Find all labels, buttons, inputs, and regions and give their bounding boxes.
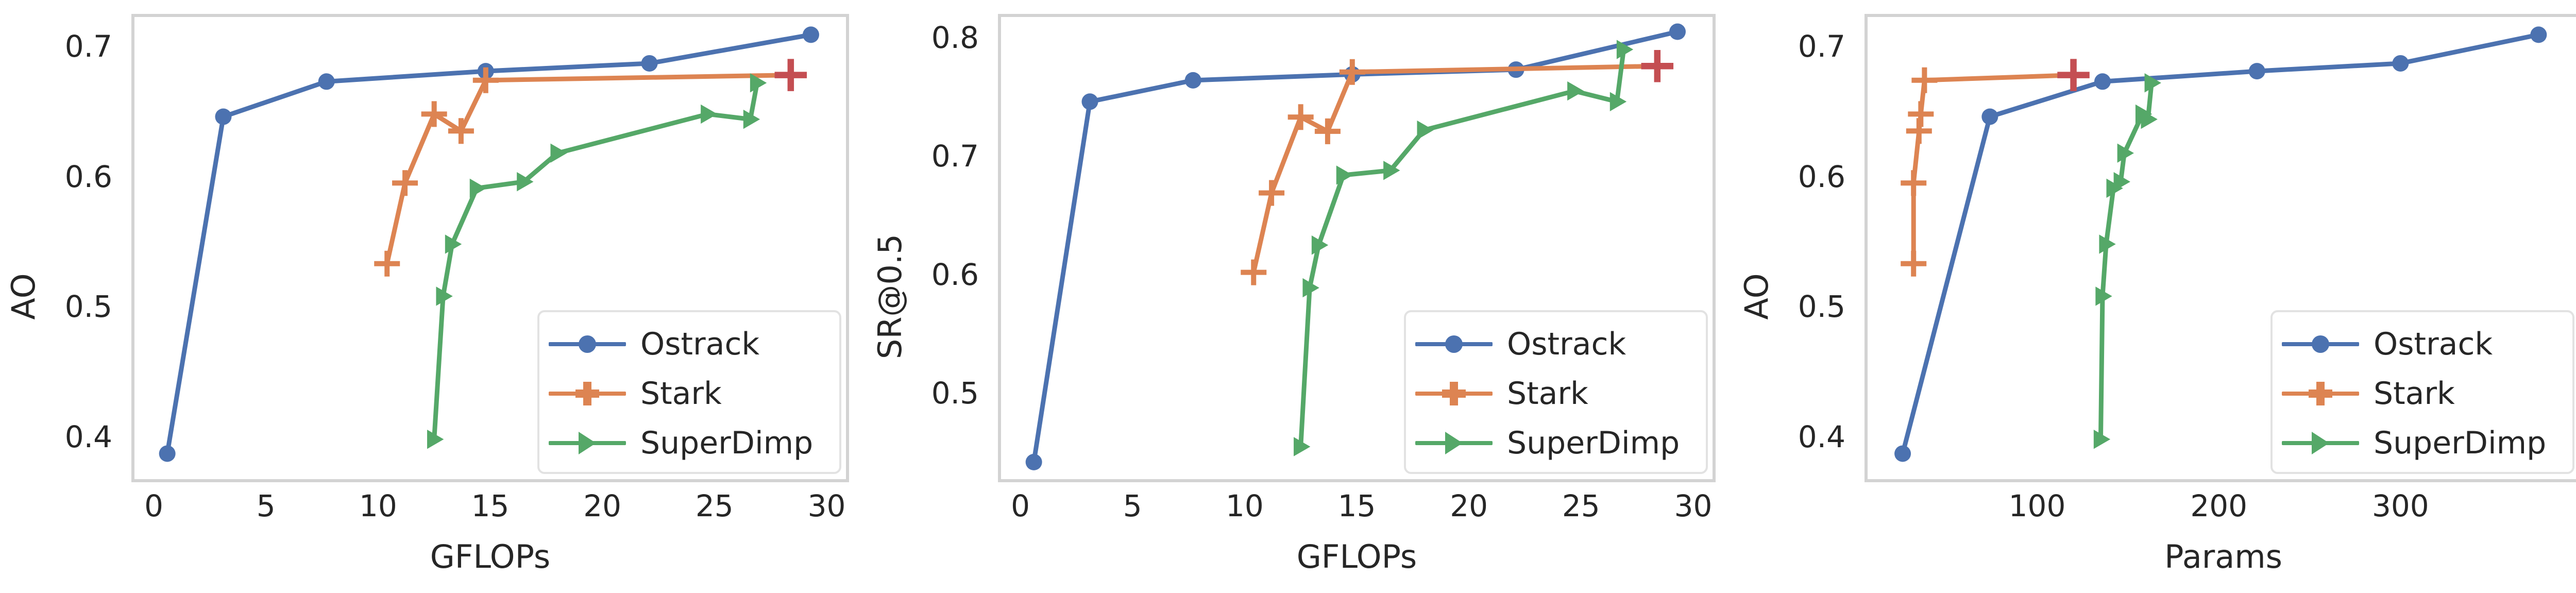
data-point-circle bbox=[2249, 63, 2265, 79]
x-tick-label: 10 bbox=[1226, 488, 1264, 523]
data-point-triangle-right bbox=[701, 105, 717, 124]
circle-icon bbox=[579, 335, 596, 353]
x-tick-label: 25 bbox=[696, 488, 734, 523]
plus-icon bbox=[1442, 382, 1466, 405]
x-tick-label: 15 bbox=[1338, 488, 1376, 523]
y-tick-label: 0.4 bbox=[1798, 419, 1845, 454]
y-tick-label: 0.6 bbox=[65, 159, 112, 194]
x-tick-label: 15 bbox=[471, 488, 510, 523]
data-point-plus bbox=[1901, 170, 1926, 196]
y-tick-label: 0.5 bbox=[65, 289, 112, 324]
legend-item-superdimp[interactable]: SuperDimp bbox=[2282, 418, 2561, 468]
data-point-circle bbox=[2392, 55, 2409, 72]
legend[interactable]: OstrackStarkSuperDimp bbox=[1404, 310, 1708, 474]
legend-swatch bbox=[549, 383, 626, 404]
legend-swatch bbox=[1415, 334, 1493, 354]
legend-item-stark[interactable]: Stark bbox=[1415, 369, 1694, 418]
legend-label: Stark bbox=[1507, 378, 1588, 409]
y-tick-label: 0.7 bbox=[931, 139, 979, 174]
x-tick-label: 10 bbox=[359, 488, 397, 523]
data-point-triangle-right bbox=[1417, 121, 1433, 140]
x-tick-label: 300 bbox=[2372, 488, 2429, 523]
data-point-circle bbox=[641, 55, 658, 72]
data-point-plus bbox=[374, 251, 400, 277]
y-tick-label: 0.5 bbox=[931, 376, 979, 411]
y-tick-label: 0.7 bbox=[1798, 29, 1845, 64]
data-point-plus bbox=[1901, 251, 1926, 277]
legend[interactable]: OstrackStarkSuperDimp bbox=[2270, 310, 2574, 474]
data-point-plus bbox=[448, 118, 474, 144]
legend-label: SuperDimp bbox=[640, 428, 813, 459]
legend-swatch bbox=[1415, 383, 1493, 404]
legend-swatch bbox=[1415, 433, 1493, 453]
legend-swatch bbox=[2282, 433, 2359, 453]
data-point-plus bbox=[392, 170, 418, 196]
multi-panel-figure: AOGFLOPs0.40.50.60.7051015202530OstrackS… bbox=[0, 0, 2576, 593]
circle-icon bbox=[2312, 335, 2329, 353]
data-point-plus bbox=[1315, 118, 1341, 144]
y-tick-label: 0.6 bbox=[1798, 159, 1845, 194]
legend-item-ostrack[interactable]: Ostrack bbox=[2282, 319, 2561, 369]
legend-swatch bbox=[2282, 334, 2359, 354]
series-stark bbox=[1241, 53, 1670, 285]
legend[interactable]: OstrackStarkSuperDimp bbox=[537, 310, 841, 474]
series-line bbox=[2100, 83, 2151, 439]
plus-icon bbox=[2309, 382, 2332, 405]
legend-swatch bbox=[549, 433, 626, 453]
x-tick-label: 25 bbox=[1562, 488, 1600, 523]
legend-swatch bbox=[549, 334, 626, 354]
series-line bbox=[387, 75, 791, 264]
legend-label: SuperDimp bbox=[2374, 428, 2546, 459]
y-tick-labels: 0.50.60.70.8 bbox=[867, 0, 990, 593]
legend-label: Stark bbox=[640, 378, 722, 409]
x-tick-label: 30 bbox=[1674, 488, 1713, 523]
plus-icon bbox=[575, 382, 599, 405]
data-point-circle bbox=[1981, 108, 1998, 125]
legend-item-ostrack[interactable]: Ostrack bbox=[1415, 319, 1694, 369]
x-axis-label: GFLOPs bbox=[998, 536, 1716, 577]
series-superdimp bbox=[2094, 73, 2161, 449]
data-point-circle bbox=[215, 108, 231, 125]
data-point-plus bbox=[1259, 180, 1284, 206]
data-point-circle bbox=[2094, 73, 2111, 90]
data-point-circle bbox=[2530, 26, 2547, 43]
legend-label: Stark bbox=[2374, 378, 2455, 409]
highlight-point bbox=[1641, 50, 1674, 82]
series-line bbox=[1913, 75, 2073, 264]
data-point-circle bbox=[803, 26, 819, 43]
chart-panel-2: SR@0.5GFLOPs0.50.60.70.8051015202530Ostr… bbox=[867, 0, 1733, 593]
data-point-plus bbox=[1340, 59, 1365, 85]
legend-item-superdimp[interactable]: SuperDimp bbox=[1415, 418, 1694, 468]
data-point-triangle-right bbox=[1336, 165, 1353, 184]
y-tick-label: 0.7 bbox=[65, 29, 112, 64]
legend-swatch bbox=[2282, 383, 2359, 404]
y-tick-label: 0.5 bbox=[1798, 289, 1845, 324]
x-tick-label: 0 bbox=[144, 488, 163, 523]
data-point-plus bbox=[421, 101, 447, 127]
legend-item-ostrack[interactable]: Ostrack bbox=[549, 319, 828, 369]
legend-item-superdimp[interactable]: SuperDimp bbox=[549, 418, 828, 468]
data-point-plus bbox=[1911, 67, 1937, 93]
x-tick-label: 5 bbox=[1123, 488, 1142, 523]
x-tick-label: 5 bbox=[257, 488, 276, 523]
legend-item-stark[interactable]: Stark bbox=[2282, 369, 2561, 418]
x-tick-label: 30 bbox=[808, 488, 846, 523]
x-axis-label: Params bbox=[1865, 536, 2576, 577]
data-point-circle bbox=[1081, 93, 1098, 110]
circle-icon bbox=[1445, 335, 1463, 353]
y-tick-labels: 0.40.50.60.7 bbox=[0, 0, 124, 593]
data-point-circle bbox=[1026, 454, 1042, 470]
data-point-circle bbox=[159, 445, 176, 462]
series-stark bbox=[374, 62, 804, 277]
chart-panel-1: AOGFLOPs0.40.50.60.7051015202530OstrackS… bbox=[0, 0, 867, 593]
x-tick-label: 20 bbox=[1450, 488, 1488, 523]
legend-label: Ostrack bbox=[2374, 329, 2493, 360]
data-point-plus bbox=[1241, 260, 1266, 285]
data-point-circle bbox=[1894, 445, 1911, 462]
data-point-circle bbox=[1185, 72, 1201, 89]
x-tick-label: 20 bbox=[583, 488, 621, 523]
y-tick-labels: 0.40.50.60.7 bbox=[1733, 0, 1857, 593]
triangle-right-icon bbox=[1445, 432, 1463, 454]
data-point-plus bbox=[1288, 104, 1314, 130]
x-tick-label: 200 bbox=[2190, 488, 2247, 523]
y-tick-label: 0.6 bbox=[931, 257, 979, 292]
y-tick-label: 0.4 bbox=[65, 419, 112, 454]
data-point-triangle-right bbox=[470, 179, 486, 198]
data-point-circle bbox=[1669, 24, 1686, 40]
legend-label: Ostrack bbox=[1507, 329, 1626, 360]
legend-item-stark[interactable]: Stark bbox=[549, 369, 828, 418]
y-tick-label: 0.8 bbox=[931, 20, 979, 55]
x-tick-label: 100 bbox=[2009, 488, 2066, 523]
x-axis-label: GFLOPs bbox=[131, 536, 849, 577]
legend-label: SuperDimp bbox=[1507, 428, 1680, 459]
data-point-circle bbox=[318, 73, 335, 90]
triangle-right-icon bbox=[579, 432, 596, 454]
highlight-point bbox=[775, 59, 807, 91]
data-point-plus bbox=[1906, 118, 1932, 144]
data-point-triangle-right bbox=[550, 143, 567, 162]
data-point-triangle-right bbox=[1567, 81, 1584, 100]
triangle-right-icon bbox=[2312, 432, 2329, 454]
legend-label: Ostrack bbox=[640, 329, 759, 360]
x-tick-label: 0 bbox=[1011, 488, 1030, 523]
chart-panel-3: AOParams0.40.50.60.7100200300OstrackStar… bbox=[1733, 0, 2576, 593]
